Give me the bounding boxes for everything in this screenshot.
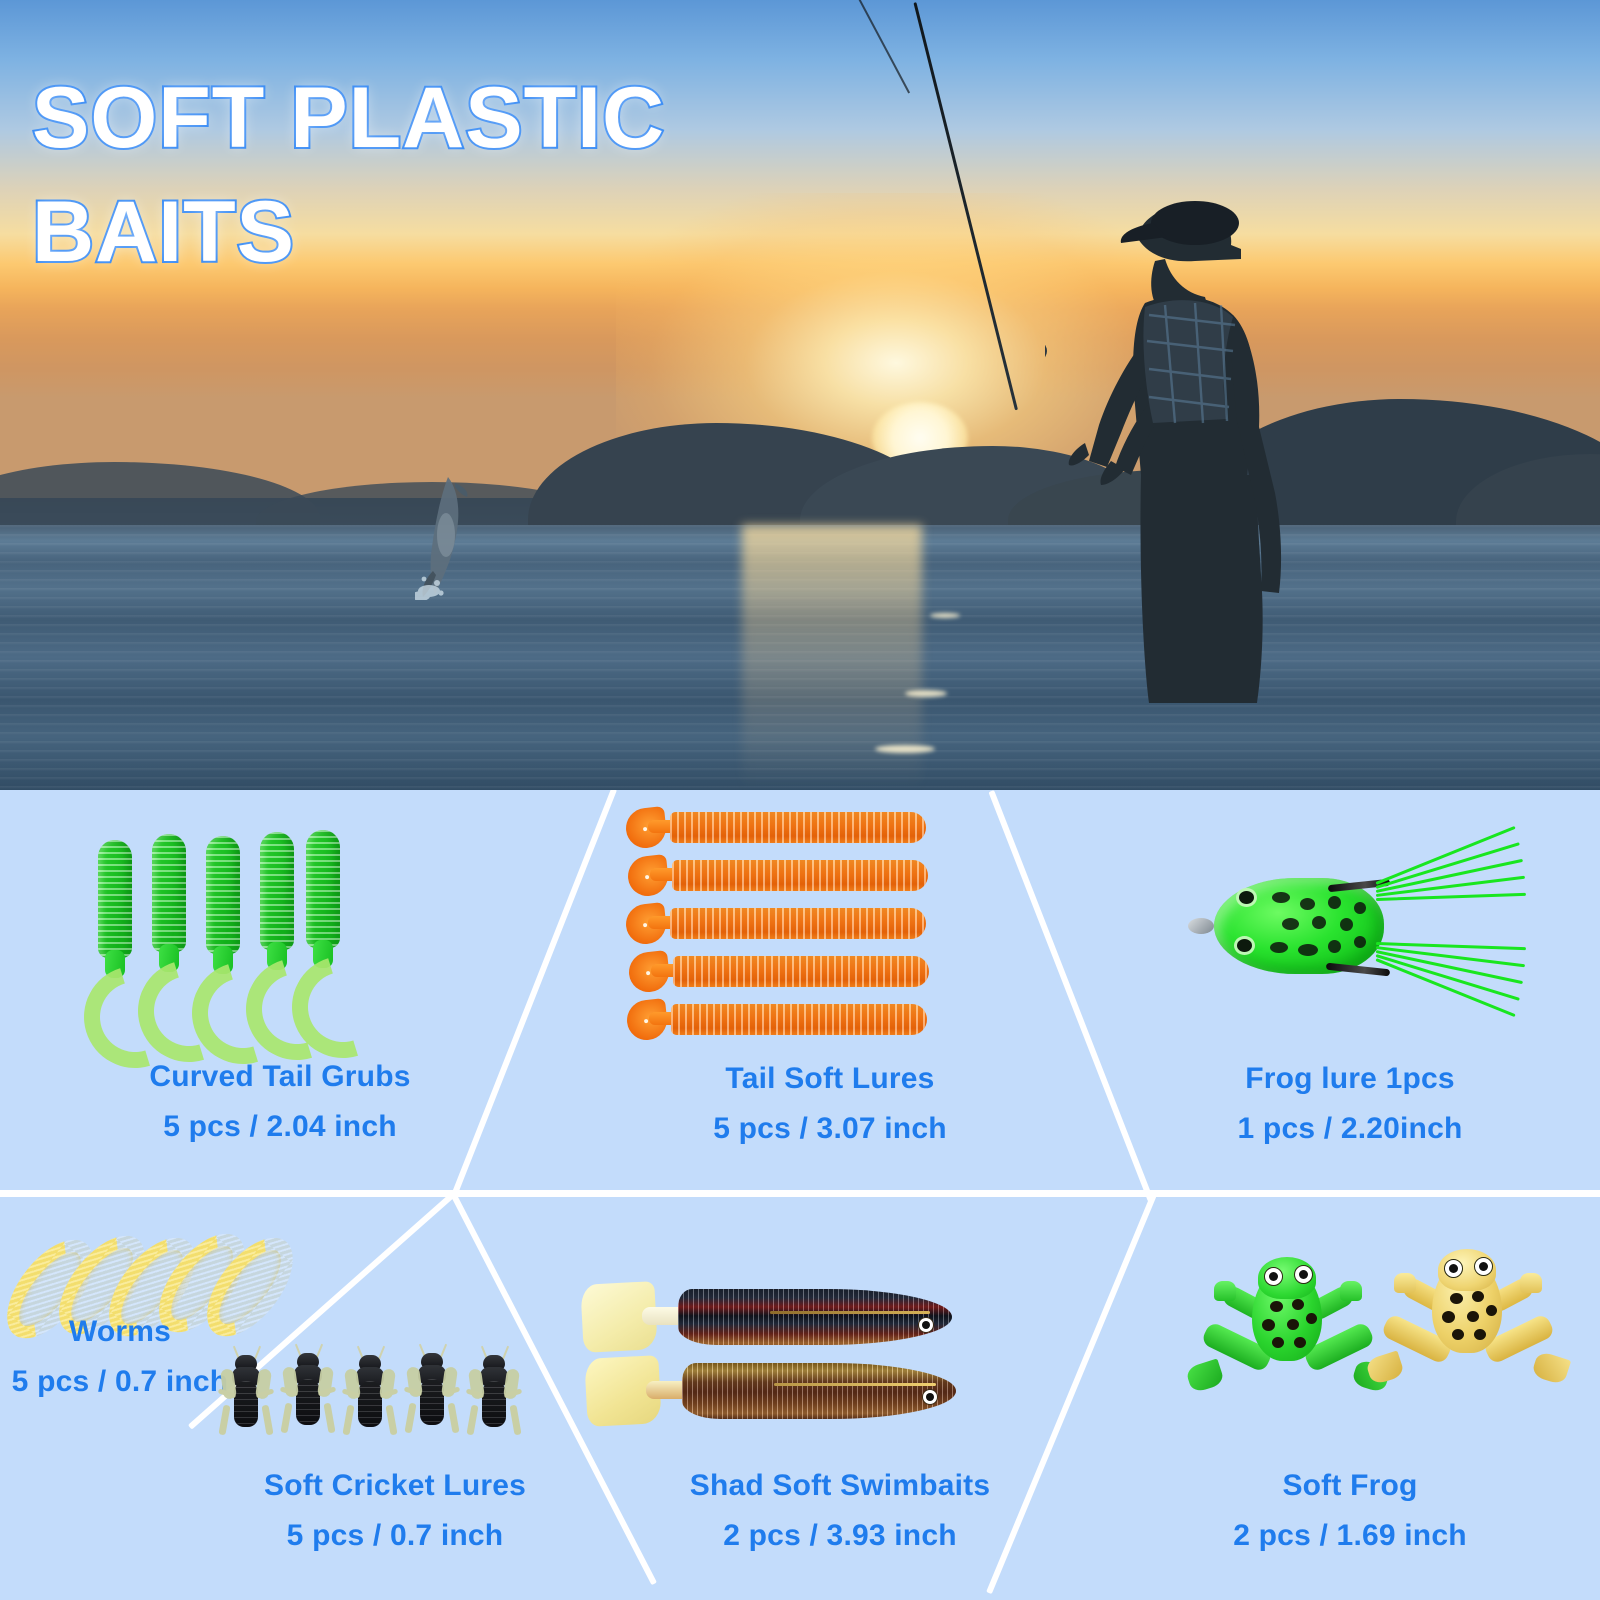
worm-lure-icon xyxy=(122,1229,156,1319)
shad-swimbait-icon xyxy=(582,1281,952,1355)
paddle-lure-group xyxy=(626,808,956,1048)
cricket-lure-icon xyxy=(220,1351,272,1443)
water-sparkle xyxy=(875,745,935,753)
soft-frog-icon xyxy=(1368,1241,1568,1401)
fisherman-silhouette xyxy=(1045,175,1305,705)
water-sparkle xyxy=(905,690,947,697)
grub-lure-icon xyxy=(200,836,246,996)
product-name: Curved Tail Grubs xyxy=(0,1060,560,1094)
hero-photo: SOFT PLASTIC BAITS xyxy=(0,0,1600,790)
grub-lure-icon xyxy=(146,834,192,994)
water-sparkle xyxy=(930,613,960,618)
product-panel-curved-tail-grubs[interactable]: Curved Tail Grubs 5 pcs / 2.04 inch xyxy=(0,790,560,1188)
worm-lure-icon xyxy=(72,1227,106,1317)
shad-swimbait-icon xyxy=(586,1355,956,1429)
product-spec: 2 pcs / 3.93 inch xyxy=(580,1519,1100,1553)
paddle-tail-lure-icon xyxy=(628,856,928,896)
title-line-1: SOFT PLASTIC xyxy=(32,70,665,166)
product-name: Tail Soft Lures xyxy=(560,1062,1100,1096)
grub-lure-group xyxy=(92,822,372,1037)
product-spec: 1 pcs / 2.20inch xyxy=(1100,1112,1600,1146)
product-spec: 2 pcs / 1.69 inch xyxy=(1100,1519,1600,1553)
paddle-tail-lure-icon xyxy=(629,952,929,992)
product-grid: Curved Tail Grubs 5 pcs / 2.04 inch Tail… xyxy=(0,790,1600,1600)
paddle-tail-lure-icon xyxy=(626,904,926,944)
product-name: Soft Frog xyxy=(1100,1469,1600,1503)
paddle-tail-lure-icon xyxy=(627,1000,927,1040)
product-panel-frog-lure[interactable]: Frog lure 1pcs 1 pcs / 2.20inch xyxy=(1100,790,1600,1188)
grub-lure-icon xyxy=(300,830,346,990)
shad-group xyxy=(582,1281,972,1451)
title-line-2: BAITS xyxy=(32,176,665,290)
product-name: Frog lure 1pcs xyxy=(1100,1062,1600,1096)
product-panel-tail-soft-lures[interactable]: Tail Soft Lures 5 pcs / 3.07 inch xyxy=(560,790,1100,1188)
page-title: SOFT PLASTIC BAITS xyxy=(32,62,665,289)
grub-lure-icon xyxy=(254,832,300,992)
product-spec: 5 pcs / 0.7 inch xyxy=(180,1519,610,1553)
product-name: Shad Soft Swimbaits xyxy=(580,1469,1100,1503)
worm-lure-icon xyxy=(20,1231,54,1321)
product-spec: 5 pcs / 3.07 inch xyxy=(560,1112,1100,1146)
cricket-lure-icon xyxy=(282,1349,334,1441)
product-panel-soft-cricket-lures[interactable]: Soft Cricket Lures 5 pcs / 0.7 inch xyxy=(180,1197,610,1390)
row-divider xyxy=(0,1190,1600,1197)
cricket-lure-icon xyxy=(344,1351,396,1443)
product-name: Soft Cricket Lures xyxy=(180,1469,610,1503)
soft-frog-icon xyxy=(1188,1249,1388,1409)
hollow-frog-lure-icon xyxy=(1178,826,1518,1026)
cricket-lure-icon xyxy=(468,1351,520,1443)
paddle-tail-lure-icon xyxy=(626,808,926,848)
product-panel-shad-soft-swimbaits[interactable]: Shad Soft Swimbaits 2 pcs / 3.93 inch xyxy=(580,1197,1100,1390)
cricket-group xyxy=(220,1349,520,1449)
grub-lure-icon xyxy=(92,840,138,1000)
product-spec: 5 pcs / 2.04 inch xyxy=(0,1110,560,1144)
product-panel-soft-frog[interactable]: Soft Frog 2 pcs / 1.69 inch xyxy=(1100,1197,1600,1390)
product-infographic: SOFT PLASTIC BAITS Curved Tail Grubs 5 xyxy=(0,0,1600,1600)
jumping-fish-icon xyxy=(415,475,475,600)
cricket-lure-icon xyxy=(406,1349,458,1441)
